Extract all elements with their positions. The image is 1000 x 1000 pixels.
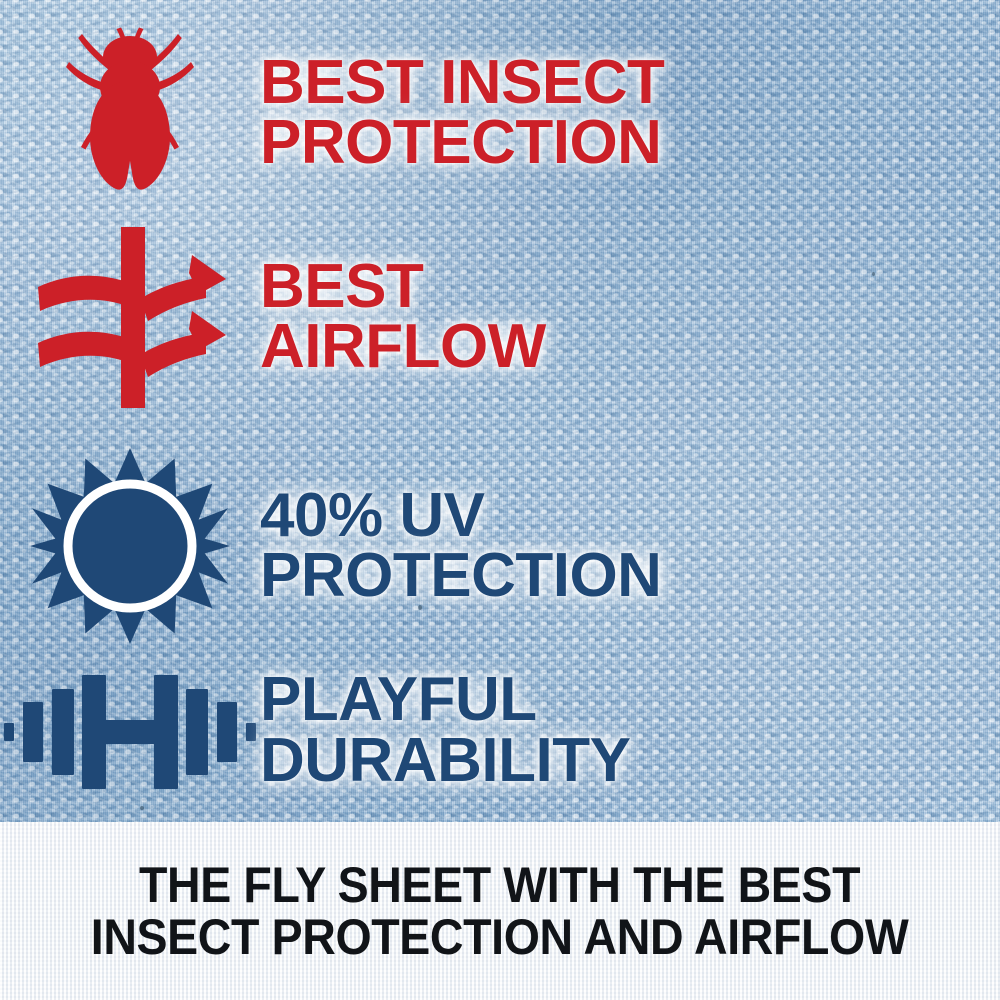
feature-row-durability: PLAYFUL DURABILITY (0, 648, 1000, 813)
feature-row-airflow: BEST AIRFLOW (0, 222, 1000, 412)
sun-icon (30, 446, 230, 646)
feature-icon-cell (0, 665, 260, 797)
feature-label-uv-protection: 40% UV PROTECTION (260, 486, 661, 606)
feature-list: BEST INSECT PROTECTION (0, 0, 1000, 822)
feature-label-airflow: BEST AIRFLOW (260, 257, 546, 377)
feature-row-insect-protection: BEST INSECT PROTECTION (0, 18, 1000, 208)
feature-icon-cell (0, 21, 260, 206)
feature-label-insect-protection: BEST INSECT PROTECTION (260, 53, 664, 173)
product-feature-infographic: BEST INSECT PROTECTION (0, 0, 1000, 1000)
dumbbell-icon (4, 665, 256, 797)
feature-label-durability: PLAYFUL DURABILITY (260, 670, 630, 790)
feature-icon-cell (0, 225, 260, 410)
caption-bar: THE FLY SHEET WITH THE BEST INSECT PROTE… (0, 822, 1000, 1000)
caption-text: THE FLY SHEET WITH THE BEST INSECT PROTE… (91, 859, 909, 963)
feature-icon-cell (0, 446, 260, 646)
feature-row-uv-protection: 40% UV PROTECTION (0, 438, 1000, 654)
airflow-arrows-icon (30, 225, 230, 410)
fly-icon (60, 21, 200, 206)
